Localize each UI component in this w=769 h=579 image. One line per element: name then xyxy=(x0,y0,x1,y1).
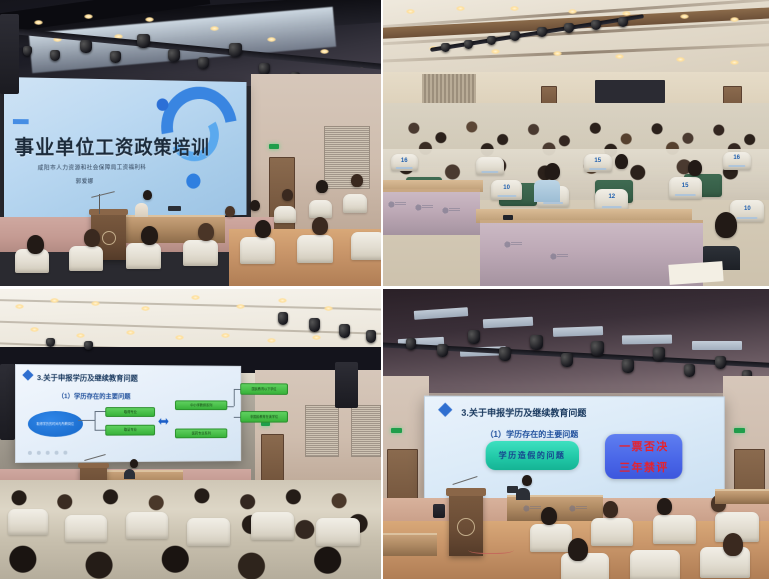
seat xyxy=(251,512,294,540)
seat-tag xyxy=(497,195,516,197)
led-screen: 3.关于申报学历及继续教育问题 （1）学历存在的主要问题 学历造假的问题 一票否… xyxy=(424,396,725,501)
downlight xyxy=(491,49,500,54)
downlight xyxy=(76,333,85,338)
wall-vent-grille xyxy=(324,126,370,189)
attendee-head xyxy=(615,154,628,169)
seat xyxy=(653,515,696,544)
desk-logo-icon xyxy=(387,200,407,209)
stage-light xyxy=(339,324,350,338)
led-screen: 事业单位工资政策培训 咸阳市人力资源和社会保障局工资福利科 郭爱娜 xyxy=(4,77,246,220)
seat-tag xyxy=(675,194,695,196)
desk-logo-icon xyxy=(522,504,542,513)
seat xyxy=(630,550,680,579)
teal-box-label: 学历造假的问题 xyxy=(499,450,566,461)
attendee-head-foreground xyxy=(723,533,743,556)
attendee-head xyxy=(545,163,560,180)
side-desk-far xyxy=(715,489,769,504)
paper-document xyxy=(668,261,723,285)
presenter-head xyxy=(522,475,532,486)
downlight xyxy=(278,298,287,303)
floor-cable xyxy=(468,544,514,554)
stage-light xyxy=(441,43,450,52)
seat-numbered: 12 xyxy=(595,189,628,211)
desk-logo-icon xyxy=(568,504,588,513)
flow-ellipse-label: 取得学历的时间与所聘岗位 xyxy=(34,423,77,427)
attendee-head-foreground xyxy=(141,226,158,245)
attendee-head-foreground xyxy=(568,538,588,561)
attendee-body xyxy=(534,180,560,202)
flow-box-label: 国民教育以下学位 xyxy=(251,388,278,392)
downlight xyxy=(191,295,200,300)
side-desk xyxy=(383,533,437,556)
stage-monitor-speaker xyxy=(433,504,445,519)
exit-sign-icon xyxy=(261,422,270,426)
stage-light xyxy=(23,46,32,56)
seat-numbered: 16 xyxy=(391,154,418,171)
podium-emblem-icon xyxy=(102,231,116,245)
downlight xyxy=(126,330,135,335)
pa-speaker xyxy=(0,364,15,439)
flow-box: 国民教育以下学位 xyxy=(241,384,288,395)
podium-top xyxy=(89,209,129,215)
downlight xyxy=(406,9,415,14)
attendee-head xyxy=(541,507,557,525)
downlight xyxy=(568,9,577,14)
seat-number: 10 xyxy=(744,206,751,212)
flow-box-label: 中小学教师系列 xyxy=(189,404,213,408)
ceiling-light-panel xyxy=(622,335,672,345)
stage-light xyxy=(464,40,473,49)
flow-ellipse: 取得学历的时间与所聘岗位 xyxy=(28,412,83,438)
seat xyxy=(183,240,218,266)
flow-connector xyxy=(234,389,235,406)
seat-tag xyxy=(589,168,606,170)
attendee-head xyxy=(351,174,363,187)
slide-section-label: （1）学历存在的主要问题 xyxy=(58,391,131,401)
slide-heading: 3.关于申报学历及继续教育问题 xyxy=(462,406,587,419)
flow-connector xyxy=(94,412,105,413)
attendee-head xyxy=(225,206,235,217)
flow-connector xyxy=(94,412,95,430)
photo-bottom-right: 3.关于申报学历及继续教育问题 （1）学历存在的主要问题 学历造假的问题 一票否… xyxy=(383,289,769,579)
attendee-head-foreground xyxy=(198,223,214,241)
photo-collage: 事业单位工资政策培训 咸阳市人力资源和社会保障局工资福利科 郭爱娜 xyxy=(0,0,769,579)
seat xyxy=(240,237,275,264)
phone xyxy=(503,215,513,220)
flow-box-label: 取得专业 xyxy=(123,410,138,414)
toolbar-dot-icon[interactable] xyxy=(46,451,50,455)
flow-connector xyxy=(94,430,105,431)
slide-heading: 3.关于申报学历及继续教育问题 xyxy=(37,372,138,383)
attendee-head xyxy=(657,498,672,515)
microphone-stand xyxy=(99,194,100,214)
stage-light-ceiling xyxy=(84,341,93,350)
downlight xyxy=(456,6,465,11)
led-screen: 3.关于申报学历及继续教育问题 （1）学历存在的主要问题 取得学历的时间与所聘岗… xyxy=(15,364,241,463)
slide-subtitle-org: 咸阳市人力资源和社会保障局工资福利科 xyxy=(37,162,146,171)
seat-number: 16 xyxy=(733,155,740,161)
seat xyxy=(187,518,230,546)
pa-speaker xyxy=(0,14,19,94)
presenter-head xyxy=(143,190,152,200)
podium-top xyxy=(78,463,109,468)
seat xyxy=(591,518,633,546)
seat-number: 15 xyxy=(594,158,601,164)
desk-logo-icon xyxy=(503,240,523,249)
seat-numbered xyxy=(476,157,504,175)
wall-vent-grille xyxy=(351,405,381,457)
pa-speaker-right xyxy=(335,362,358,408)
seat-tag xyxy=(737,217,758,219)
exit-sign-icon xyxy=(391,428,402,433)
exit-sign-icon xyxy=(269,144,279,149)
stage-light xyxy=(468,330,480,344)
flow-box: 取得专业 xyxy=(106,407,155,417)
toolbar-dot-icon[interactable] xyxy=(37,451,41,455)
seat xyxy=(309,200,332,218)
seat xyxy=(69,246,103,271)
attendee-head-foreground xyxy=(255,220,271,238)
downlight xyxy=(145,17,154,22)
slide-bullet-icon xyxy=(23,370,34,381)
stage-light xyxy=(366,330,376,343)
slide-section-label: （1）学历存在的主要问题 xyxy=(486,429,579,440)
seat-number: 12 xyxy=(608,194,615,200)
seat-tag xyxy=(543,202,563,204)
wall-vent-grille xyxy=(305,405,339,457)
stage-light xyxy=(168,49,180,62)
exit-sign-icon xyxy=(734,428,745,433)
stage-light xyxy=(437,344,448,357)
stage-light xyxy=(278,312,288,325)
seat-tag xyxy=(728,165,745,167)
seat xyxy=(126,243,161,269)
downlight xyxy=(30,327,39,332)
attendee-head-foreground xyxy=(27,235,44,254)
slide-title: 事业单位工资政策培训 xyxy=(14,132,209,161)
seat-numbered: 15 xyxy=(669,177,702,199)
seat-number: 16 xyxy=(401,158,408,164)
attendee-head-foreground xyxy=(715,212,737,238)
downlight xyxy=(91,301,100,306)
attendee-head xyxy=(603,501,618,518)
seat xyxy=(8,509,48,535)
seat xyxy=(297,235,333,263)
seat xyxy=(316,518,360,546)
seat-number: 10 xyxy=(503,185,510,191)
downlight xyxy=(320,49,329,54)
slide-dot xyxy=(156,98,168,111)
seat-numbered: 10 xyxy=(491,180,522,200)
penalty-line-1: 一票否决 xyxy=(620,438,670,454)
stage-light xyxy=(309,318,320,332)
downlight xyxy=(236,304,245,309)
flow-box: 取证专业 xyxy=(106,425,155,436)
slide-bullet-icon xyxy=(438,403,452,417)
flow-arrow-icon xyxy=(159,418,169,425)
teal-highlight-box: 学历造假的问题 xyxy=(486,441,579,470)
stage-light xyxy=(622,359,634,373)
podium-top xyxy=(446,488,486,496)
stage-light-ceiling xyxy=(46,338,55,347)
stage-light xyxy=(198,57,209,69)
desk-logo-icon xyxy=(549,252,569,261)
seat-tag xyxy=(396,167,413,169)
front-display-screen xyxy=(595,80,664,103)
ceiling-light-panel xyxy=(553,326,603,336)
seat-number: 15 xyxy=(682,183,689,189)
seat xyxy=(343,194,367,213)
stage-light xyxy=(684,364,695,377)
presenter-body xyxy=(124,469,135,479)
stage-light xyxy=(499,347,511,361)
flow-box: 非国民教育在读学位 xyxy=(241,412,288,423)
flow-box-label: 非国民教育在读学位 xyxy=(249,415,279,419)
downlight xyxy=(210,26,219,31)
attendee-head xyxy=(316,180,328,193)
stage-light xyxy=(80,40,92,53)
downlight xyxy=(267,37,276,42)
penalty-line-2: 三年禁评 xyxy=(620,459,670,475)
downlight xyxy=(510,6,519,11)
stage-light xyxy=(530,335,543,350)
seat-tag xyxy=(602,206,622,208)
desk-logo-icon xyxy=(441,206,461,215)
presenter-laptop xyxy=(507,486,518,493)
toolbar-dot-icon[interactable] xyxy=(63,451,67,455)
flow-box: 中小学教师系列 xyxy=(175,401,228,411)
flow-box: 医药专业系列 xyxy=(175,429,228,439)
stage-light xyxy=(487,36,496,45)
attendee-head xyxy=(688,160,702,176)
seat xyxy=(126,512,168,539)
flow-box-label: 医药专业系列 xyxy=(191,432,212,436)
downlight xyxy=(50,298,59,303)
flow-connector xyxy=(228,406,234,407)
attendee-head xyxy=(250,200,260,211)
stage-light xyxy=(137,34,150,48)
desk-logo-icon xyxy=(414,203,434,212)
stage-light xyxy=(259,63,270,75)
presenter-body xyxy=(135,203,148,217)
presenter-body xyxy=(516,488,530,500)
photo-bottom-left: 3.关于申报学历及继续教育问题 （1）学历存在的主要问题 取得学历的时间与所聘岗… xyxy=(0,289,383,579)
seat xyxy=(65,515,107,542)
stage-light xyxy=(653,347,665,361)
seat xyxy=(530,524,572,552)
photo-top-left: 事业单位工资政策培训 咸阳市人力资源和社会保障局工资福利科 郭爱娜 xyxy=(0,0,383,289)
photo-top-right: 16 15 16 10 11 12 15 xyxy=(383,0,769,289)
presenter-laptop xyxy=(168,206,181,211)
stage-light xyxy=(50,50,60,61)
slide-subtitle-name: 郭爱娜 xyxy=(75,177,93,186)
seat xyxy=(274,206,296,223)
toolbar-dot-icon[interactable] xyxy=(55,451,59,455)
stage-light xyxy=(561,353,573,367)
toolbar-dot-icon[interactable] xyxy=(28,451,32,455)
seat-tag xyxy=(481,171,498,173)
downlight xyxy=(221,333,230,338)
flow-box-label: 取证专业 xyxy=(123,428,138,432)
downlight xyxy=(15,304,24,309)
attendee-head-foreground xyxy=(84,229,100,247)
podium-emblem-icon xyxy=(457,518,475,536)
stage-light xyxy=(715,356,726,369)
presenter-head xyxy=(130,459,138,468)
blue-penalty-box: 一票否决 三年禁评 xyxy=(606,434,683,479)
attendee-head xyxy=(282,189,293,201)
ceiling-light-panel xyxy=(692,341,742,350)
seat-numbered: 15 xyxy=(584,154,612,172)
stage-light xyxy=(229,43,242,57)
stage-light xyxy=(591,341,604,356)
slide-corner-tab xyxy=(13,119,29,124)
seat-numbered: 16 xyxy=(723,152,751,170)
slide-dot-small xyxy=(186,174,200,189)
seat xyxy=(351,232,383,260)
